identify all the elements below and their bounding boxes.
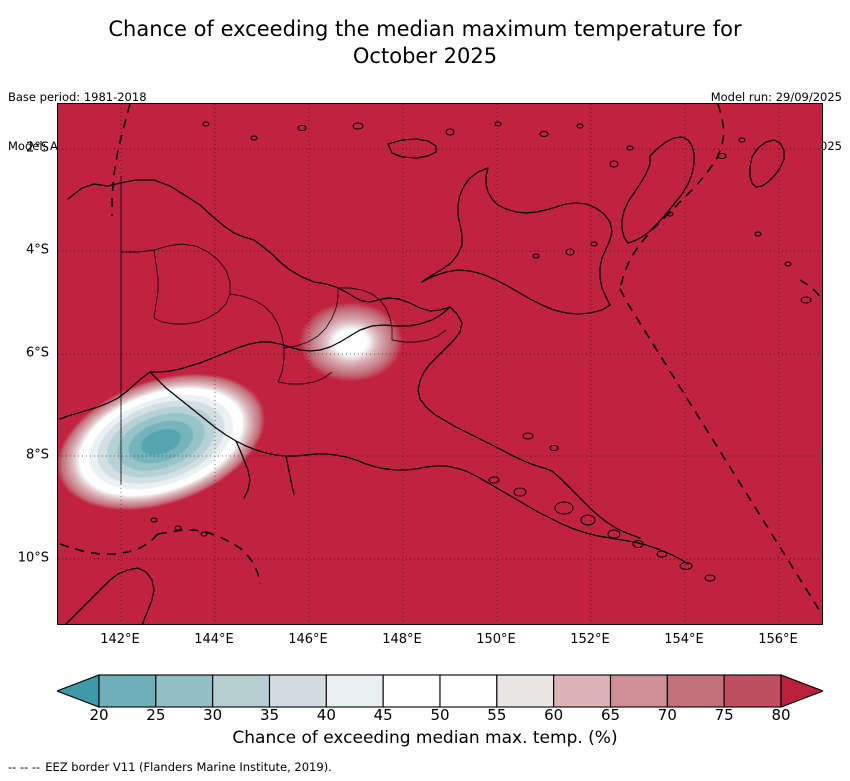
colorbar-tick-35: 35 [260, 706, 279, 724]
colorbar-tick-25: 25 [146, 706, 165, 724]
colorbar-segment [724, 675, 781, 707]
eez-footnote-text: EEZ border V11 (Flanders Marine Institut… [45, 760, 332, 774]
colorbar-tick-30: 30 [203, 706, 222, 724]
title-line-2: October 2025 [353, 44, 497, 68]
colorbar-segment [326, 675, 383, 707]
colorbar-tick-80: 80 [771, 706, 790, 724]
colorbar-segment [554, 675, 611, 707]
lon-tick-148E: 148°E [382, 632, 422, 647]
colorbar-segment [440, 675, 497, 707]
lon-tick-156E: 156°E [758, 632, 798, 647]
colorbar-over-arrow [781, 675, 823, 707]
colorbar-tick-65: 65 [601, 706, 620, 724]
lon-tick-144E: 144°E [194, 632, 234, 647]
colorbar-tick-70: 70 [658, 706, 677, 724]
colorbar-label: Chance of exceeding median max. temp. (%… [0, 728, 850, 748]
latitude-axis: 2°S 4°S 6°S 8°S 10°S [0, 103, 850, 625]
colorbar-tick-75: 75 [715, 706, 734, 724]
colorbar-segment [667, 675, 724, 707]
lat-tick-2S: 2°S [0, 141, 49, 156]
title-line-1: Chance of exceeding the median maximum t… [108, 17, 741, 41]
colorbar [57, 674, 823, 708]
colorbar-segment [611, 675, 668, 707]
colorbar-tick-60: 60 [544, 706, 563, 724]
eez-dash-sample: -- -- -- [8, 760, 40, 774]
lat-tick-10S: 10°S [0, 551, 49, 566]
lon-tick-146E: 146°E [288, 632, 328, 647]
lon-tick-150E: 150°E [476, 632, 516, 647]
colorbar-ticks: 20253035404550556065707580 [57, 706, 823, 728]
colorbar-segment [497, 675, 554, 707]
colorbar-segment [99, 675, 156, 707]
colorbar-segment [213, 675, 270, 707]
colorbar-tick-50: 50 [430, 706, 449, 724]
colorbar-segment [383, 675, 440, 707]
colorbar-tick-40: 40 [317, 706, 336, 724]
longitude-axis: 142°E 144°E 146°E 148°E 150°E 152°E 154°… [57, 632, 823, 652]
colorbar-tick-45: 45 [374, 706, 393, 724]
lat-tick-6S: 6°S [0, 346, 49, 361]
colorbar-segment [270, 675, 327, 707]
footnote: -- -- -- EEZ border V11 (Flanders Marine… [8, 760, 332, 774]
colorbar-tick-20: 20 [89, 706, 108, 724]
colorbar-segment [156, 675, 213, 707]
colorbar-tick-55: 55 [487, 706, 506, 724]
figure: Chance of exceeding the median maximum t… [0, 0, 850, 781]
colorbar-under-arrow [57, 675, 99, 707]
lat-tick-8S: 8°S [0, 448, 49, 463]
lon-tick-152E: 152°E [570, 632, 610, 647]
lat-tick-4S: 4°S [0, 243, 49, 258]
lon-tick-154E: 154°E [664, 632, 704, 647]
lon-tick-142E: 142°E [100, 632, 140, 647]
